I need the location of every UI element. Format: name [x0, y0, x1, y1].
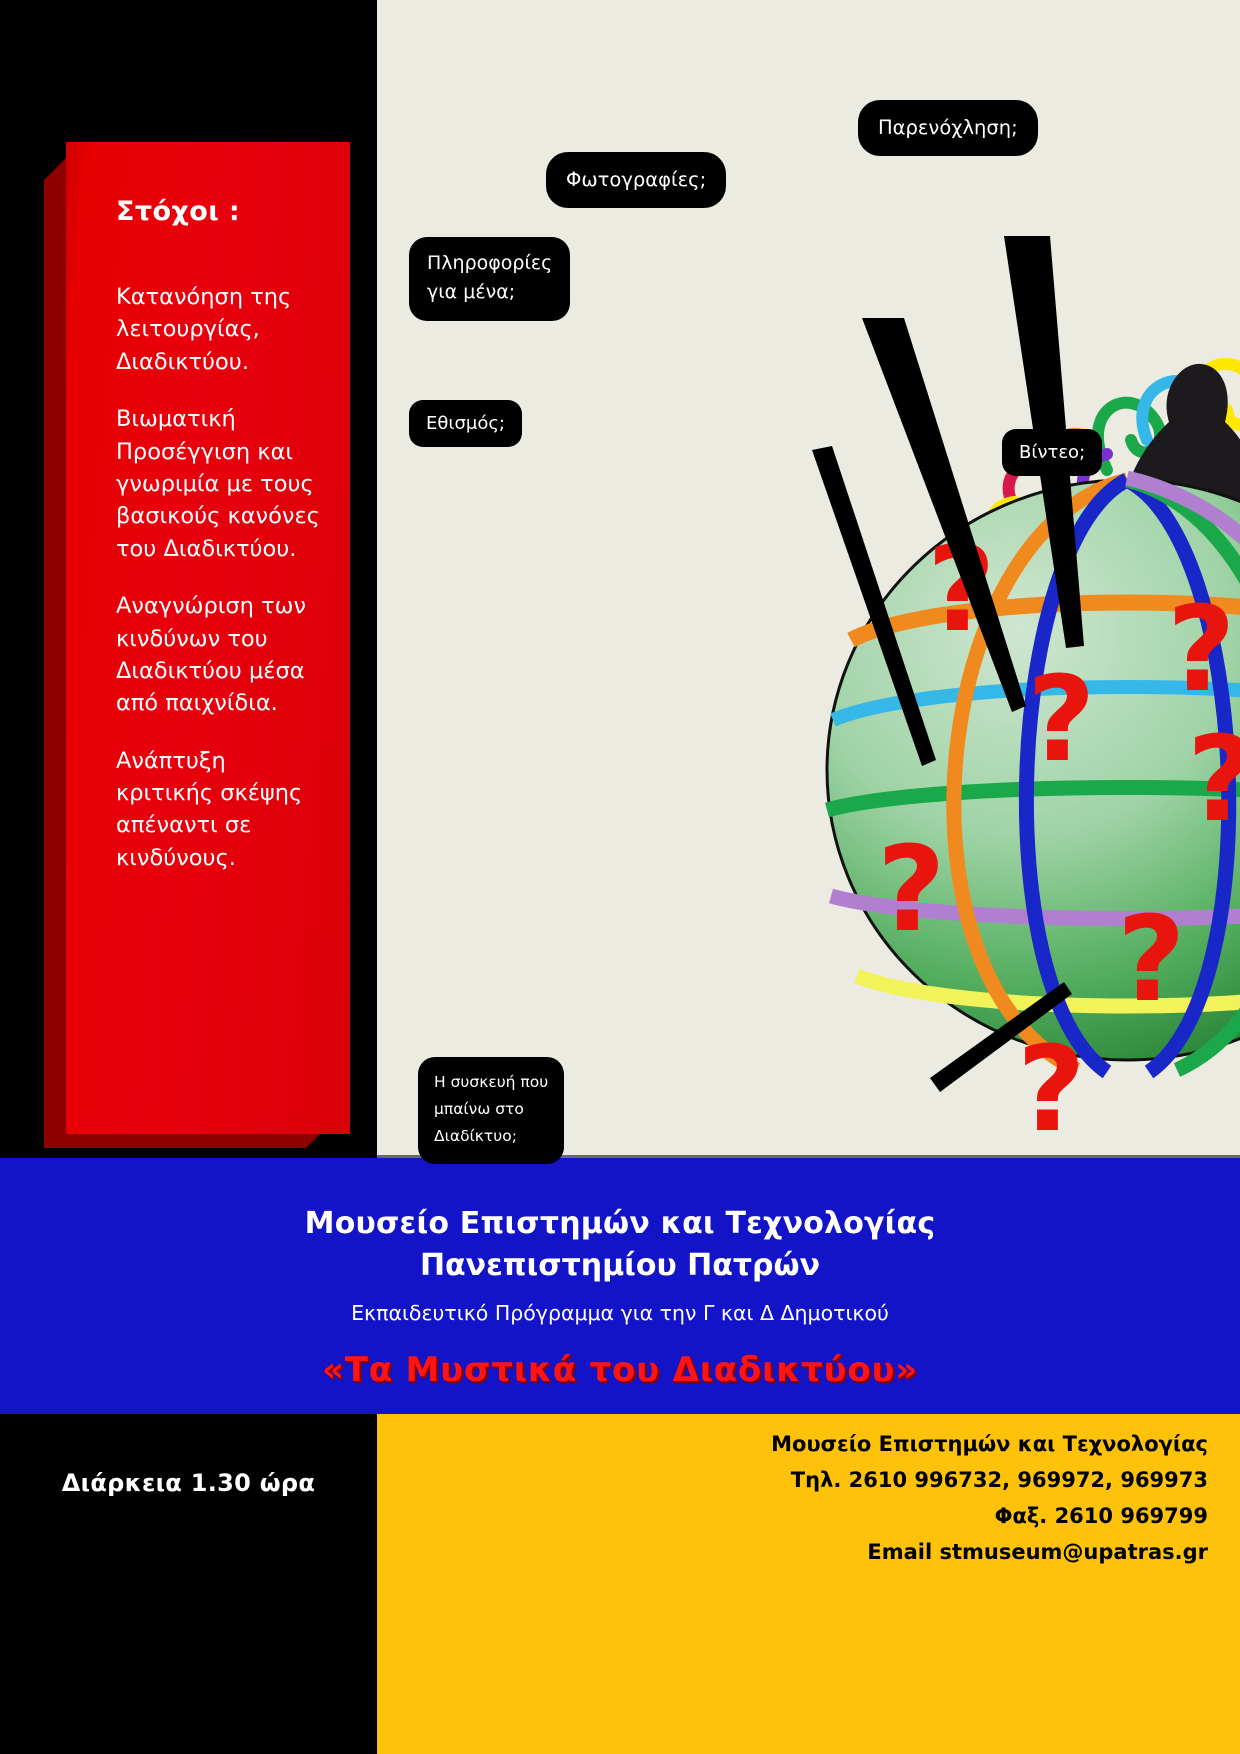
- objective-item: Κατανόηση της λειτουργίας, Διαδικτύου.: [116, 281, 326, 378]
- speech-bubble-device: Η συσκευή που μπαίνω στο Διαδίκτυο;: [418, 1057, 564, 1164]
- poster: ? ? ? ? ? ? ?: [0, 0, 1240, 1754]
- speech-bubble-harassment: Παρενόχληση;: [858, 100, 1038, 156]
- museum-name-line2: Πανεπιστημίου Πατρών: [0, 1248, 1240, 1283]
- program-subtitle: Εκπαιδευτικό Πρόγραμμα για την Γ και Δ Δ…: [0, 1301, 1240, 1325]
- illustration-stage: ? ? ? ? ? ? ?: [377, 0, 1240, 1158]
- program-title: «Τα Μυστικά του Διαδικτύου»: [0, 1350, 1240, 1390]
- contact-email[interactable]: Email stmuseum@upatras.gr: [771, 1534, 1208, 1570]
- speech-bubble-personal-info: Πληροφορίες για μένα;: [409, 237, 570, 321]
- duration-text: Διάρκεια 1.30 ώρα: [0, 1469, 377, 1497]
- contact-panel: Μουσείο Επιστημών και Τεχνολογίας Τηλ. 2…: [377, 1414, 1240, 1754]
- bubble-tails: [754, 0, 1240, 1158]
- speech-bubble-photos: Φωτογραφίες;: [546, 152, 726, 208]
- objectives-panel: Στόχοι : Κατανόηση της λειτουργίας, Διαδ…: [66, 142, 350, 1134]
- contact-museum-name: Μουσείο Επιστημών και Τεχνολογίας: [771, 1426, 1208, 1462]
- speech-bubble-video: Βίντεο;: [1002, 429, 1102, 476]
- objective-item: Βιωματική Προσέγγιση και γνωριμία με του…: [116, 403, 326, 565]
- contact-info: Μουσείο Επιστημών και Τεχνολογίας Τηλ. 2…: [771, 1426, 1208, 1570]
- contact-fax: Φαξ. 2610 969799: [771, 1498, 1208, 1534]
- duration-panel: [0, 1414, 377, 1754]
- museum-banner: Μουσείο Επιστημών και Τεχνολογίας Πανεπι…: [0, 1158, 1240, 1414]
- museum-name-line1: Μουσείο Επιστημών και Τεχνολογίας: [0, 1206, 1240, 1241]
- objective-item: Ανάπτυξη κριτικής σκέψης απέναντι σε κιν…: [116, 745, 326, 875]
- objectives-title: Στόχοι :: [116, 196, 326, 227]
- objective-item: Αναγνώριση των κινδύνων του Διαδικτύου μ…: [116, 590, 326, 720]
- speech-bubble-addiction: Εθισμός;: [409, 400, 522, 447]
- contact-phone: Τηλ. 2610 996732, 969972, 969973: [771, 1462, 1208, 1498]
